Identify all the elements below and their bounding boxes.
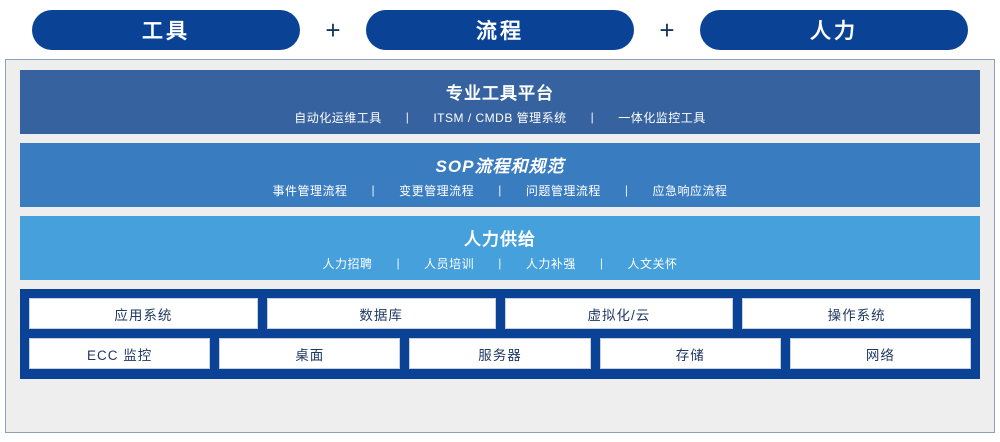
infrastructure-row-1: 应用系统 数据库 虚拟化/云 操作系统 <box>29 298 971 329</box>
infra-chip-database[interactable]: 数据库 <box>267 298 496 329</box>
infrastructure-block: 应用系统 数据库 虚拟化/云 操作系统 ECC 监控 桌面 服务器 存储 网络 <box>20 289 980 379</box>
band-title-tool-platform: 专业工具平台 <box>446 79 554 104</box>
infra-chip-desktop[interactable]: 桌面 <box>219 338 400 369</box>
infra-chip-network[interactable]: 网络 <box>790 338 971 369</box>
band-title-manpower-supply: 人力供给 <box>464 225 536 250</box>
band-item-separator: | <box>482 183 518 197</box>
infrastructure-row-2: ECC 监控 桌面 服务器 存储 网络 <box>29 338 971 369</box>
band-subitems-manpower-supply: 人力招聘 | 人员培训 | 人力补强 | 人文关怀 <box>315 255 686 272</box>
band-item[interactable]: 变更管理流程 <box>391 182 482 199</box>
band-item[interactable]: ITSM / CMDB 管理系统 <box>425 109 574 126</box>
band-item[interactable]: 应急响应流程 <box>644 182 735 199</box>
layer-band-tool-platform[interactable]: 专业工具平台 自动化运维工具 | ITSM / CMDB 管理系统 | 一体化监… <box>20 70 980 134</box>
band-item[interactable]: 人力招聘 <box>315 255 381 272</box>
pill-tools[interactable]: 工具 <box>32 10 300 50</box>
capability-formula-row: 工具 + 流程 + 人力 <box>0 0 1000 56</box>
band-item-separator: | <box>575 110 611 124</box>
pill-manpower[interactable]: 人力 <box>700 10 968 50</box>
band-item[interactable]: 问题管理流程 <box>518 182 609 199</box>
infra-chip-operating-system[interactable]: 操作系统 <box>742 298 971 329</box>
infra-chip-virtualization-cloud[interactable]: 虚拟化/云 <box>505 298 734 329</box>
infra-chip-server[interactable]: 服务器 <box>409 338 590 369</box>
infra-chip-storage[interactable]: 存储 <box>600 338 781 369</box>
band-item-separator: | <box>390 110 426 124</box>
plus-separator-2: + <box>634 17 700 43</box>
band-item[interactable]: 人力补强 <box>518 255 584 272</box>
band-item[interactable]: 人员培训 <box>416 255 482 272</box>
architecture-panel: 专业工具平台 自动化运维工具 | ITSM / CMDB 管理系统 | 一体化监… <box>5 59 995 433</box>
band-item-separator: | <box>482 256 518 270</box>
layer-band-sop-process[interactable]: SOP流程和规范 事件管理流程 | 变更管理流程 | 问题管理流程 | 应急响应… <box>20 143 980 207</box>
pill-process[interactable]: 流程 <box>366 10 634 50</box>
band-item[interactable]: 自动化运维工具 <box>286 109 390 126</box>
band-item[interactable]: 人文关怀 <box>619 255 685 272</box>
band-item[interactable]: 一体化监控工具 <box>610 109 714 126</box>
band-item[interactable]: 事件管理流程 <box>265 182 356 199</box>
layer-band-manpower-supply[interactable]: 人力供给 人力招聘 | 人员培训 | 人力补强 | 人文关怀 <box>20 216 980 280</box>
band-item-separator: | <box>381 256 417 270</box>
infra-chip-ecc-monitoring[interactable]: ECC 监控 <box>29 338 210 369</box>
band-subitems-tool-platform: 自动化运维工具 | ITSM / CMDB 管理系统 | 一体化监控工具 <box>286 109 714 126</box>
band-subitems-sop-process: 事件管理流程 | 变更管理流程 | 问题管理流程 | 应急响应流程 <box>265 182 736 199</box>
infra-chip-application-system[interactable]: 应用系统 <box>29 298 258 329</box>
band-item-separator: | <box>356 183 392 197</box>
band-item-separator: | <box>584 256 620 270</box>
band-title-sop-process: SOP流程和规范 <box>436 152 565 177</box>
plus-separator-1: + <box>300 17 366 43</box>
band-item-separator: | <box>609 183 645 197</box>
